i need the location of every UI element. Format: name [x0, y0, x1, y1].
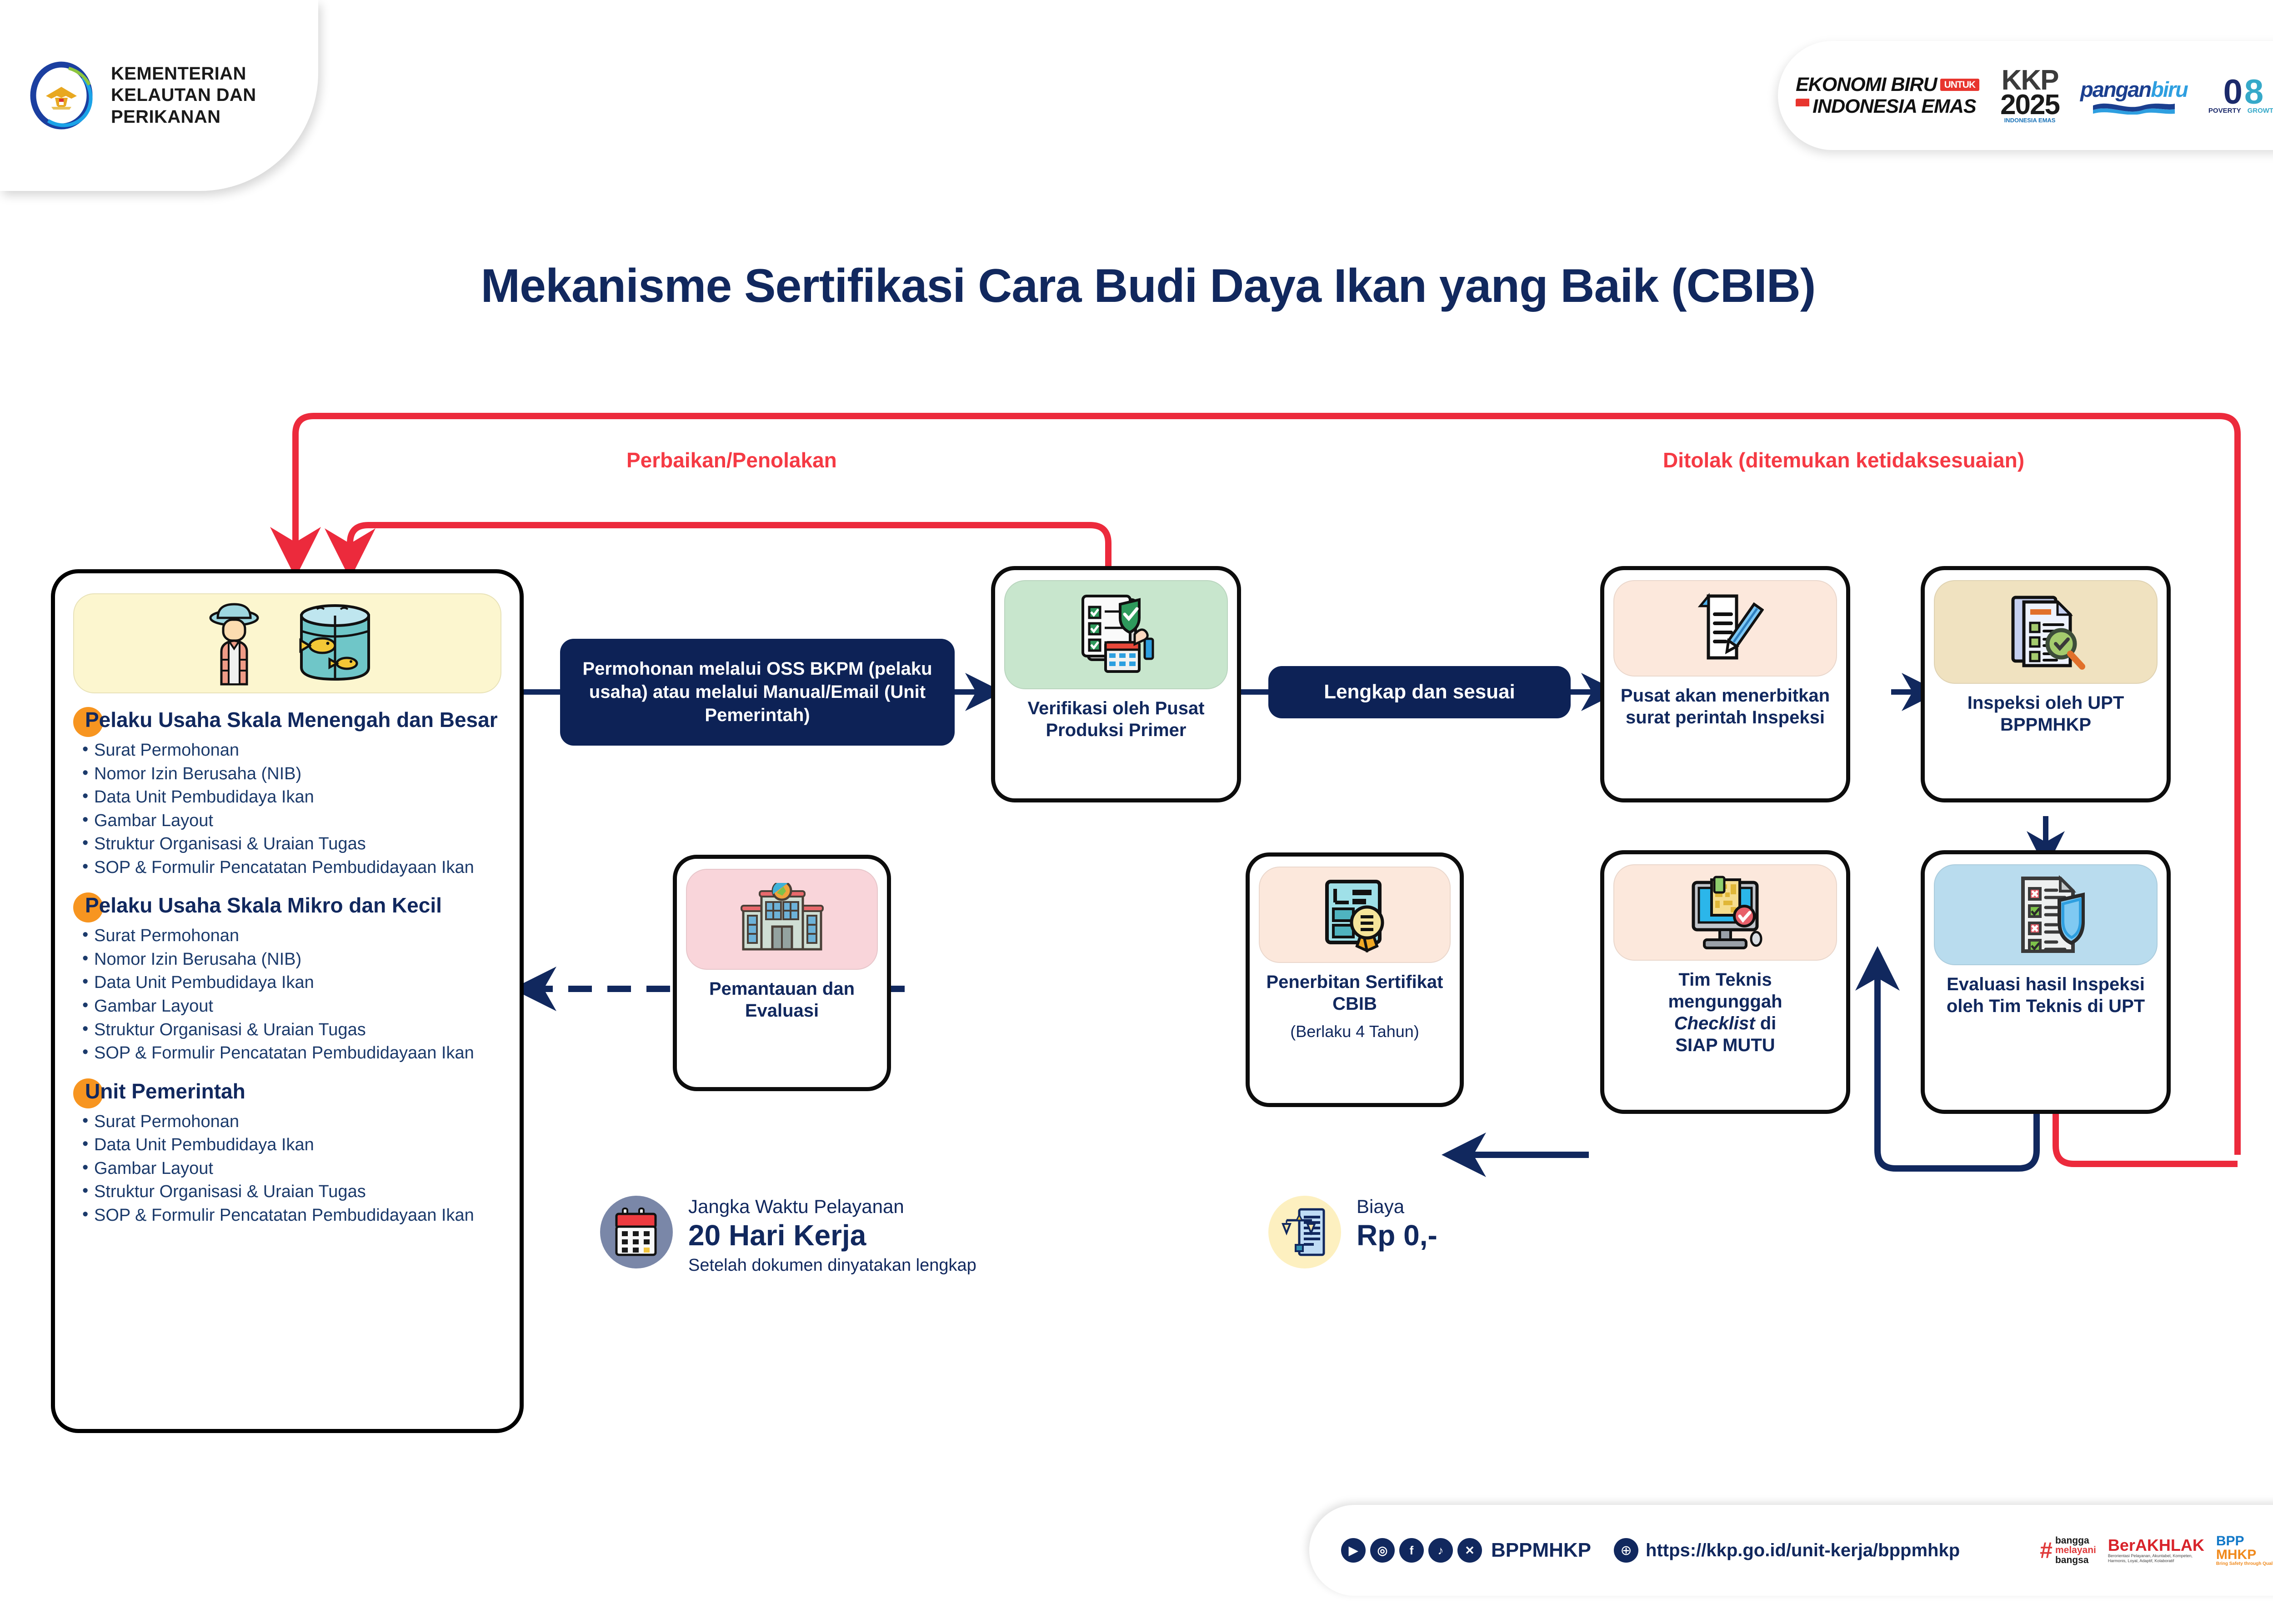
- mhkp-text: MHKP: [2216, 1548, 2273, 1562]
- checklist-shield-icon: [1934, 864, 2158, 965]
- fish-farmer-icon: [198, 601, 270, 686]
- tim-teknis-line4: SIAP MUTU: [1675, 1035, 1775, 1055]
- lengkap-dan-sesuai-pill: Lengkap dan sesuai: [1268, 666, 1571, 718]
- list-item: Surat Permohonan: [73, 1110, 501, 1133]
- list-item: Surat Permohonan: [73, 924, 501, 947]
- footer-badges: # bangga melayani bangsa BerAKHLAK Beror…: [2040, 1534, 2273, 1566]
- tim-teknis-line2: mengunggah: [1668, 992, 1782, 1012]
- info-biaya: Biaya Rp 0,-: [1268, 1196, 1437, 1268]
- bppmhkp-logo: BPP MHKP Bring Safety through Quality: [2216, 1534, 2273, 1566]
- document-pencil-icon: [1613, 580, 1837, 677]
- node-pemantauan: Pemantauan dan Evaluasi: [673, 855, 891, 1091]
- section-heading: Pelaku Usaha Skala Menengah dan Besar: [85, 707, 501, 732]
- scales-document-icon: [1268, 1196, 1341, 1268]
- facebook-icon[interactable]: f: [1399, 1538, 1424, 1563]
- requirement-section: Unit Pemerintah Surat Permohonan Data Un…: [73, 1078, 501, 1227]
- list-item: Struktur Organisasi & Uraian Tugas: [73, 1180, 501, 1203]
- node-inspeksi: Inspeksi oleh UPT BPPMHKP: [1921, 566, 2171, 802]
- berakhlak-title: BerAKHLAK: [2108, 1537, 2204, 1554]
- tiktok-icon[interactable]: ♪: [1428, 1538, 1453, 1563]
- waktu-value: 20 Hari Kerja: [688, 1219, 976, 1251]
- list-item: Data Unit Pembudidaya Ikan: [73, 1133, 501, 1157]
- requirement-list: Surat Permohonan Nomor Izin Berusaha (NI…: [73, 924, 501, 1064]
- checklist-approve-icon: [1004, 580, 1228, 689]
- requirement-section: Pelaku Usaha Skala Mikro dan Kecil Surat…: [73, 892, 501, 1064]
- checklist-magnifier-icon: [1934, 580, 2158, 684]
- section-heading: Pelaku Usaha Skala Mikro dan Kecil: [85, 892, 501, 918]
- node-label: Verifikasi oleh Pusat Produksi Primer: [1002, 697, 1230, 741]
- website-url[interactable]: https://kkp.go.id/unit-kerja/bppmhkp: [1646, 1540, 1960, 1561]
- node-evaluasi: Evaluasi hasil Inspeksi oleh Tim Teknis …: [1921, 850, 2171, 1114]
- requirement-list: Surat Permohonan Data Unit Pembudidaya I…: [73, 1110, 501, 1227]
- tim-teknis-line3-rest: di: [1755, 1013, 1777, 1033]
- node-verifikasi: Verifikasi oleh Pusat Produksi Primer: [991, 566, 1241, 802]
- bangga-melayani-bangsa-logo: # bangga melayani bangsa: [2040, 1536, 2096, 1565]
- node-label: Inspeksi oleh UPT BPPMHKP: [1932, 692, 2159, 736]
- label-perbaikan-penolakan: Perbaikan/Penolakan: [626, 448, 837, 472]
- info-waktu-pelayanan: Jangka Waktu Pelayanan 20 Hari Kerja Set…: [600, 1196, 976, 1275]
- bangga-line3: bangsa: [2055, 1555, 2096, 1565]
- section-heading: Unit Pemerintah: [85, 1078, 501, 1104]
- calendar-icon: [600, 1196, 673, 1268]
- infographic-page: KEMENTERIAN KELAUTAN DAN PERIKANAN EKONO…: [0, 0, 2273, 1624]
- waktu-note: Setelah dokumen dinyatakan lengkap: [688, 1256, 976, 1275]
- fish-tank-icon: [293, 604, 377, 683]
- node-tim-teknis: Tim Teknis mengunggah Checklist di SIAP …: [1600, 850, 1850, 1114]
- list-item: Struktur Organisasi & Uraian Tugas: [73, 1018, 501, 1042]
- list-item: Struktur Organisasi & Uraian Tugas: [73, 832, 501, 856]
- bpp-tagline: Bring Safety through Quality: [2216, 1562, 2273, 1566]
- list-item: Gambar Layout: [73, 1157, 501, 1180]
- requirement-section: Pelaku Usaha Skala Menengah dan Besar Su…: [73, 707, 501, 879]
- node-label: Evaluasi hasil Inspeksi oleh Tim Teknis …: [1932, 973, 2159, 1017]
- tim-teknis-line1: Tim Teknis: [1678, 970, 1772, 990]
- hash-icon: #: [2040, 1537, 2053, 1564]
- label-ditolak: Ditolak (ditemukan ketidaksesuaian): [1663, 448, 2024, 472]
- list-item: Nomor Izin Berusaha (NIB): [73, 948, 501, 971]
- website-link[interactable]: ⊕ https://kkp.go.id/unit-kerja/bppmhkp: [1614, 1538, 1960, 1563]
- list-item: Gambar Layout: [73, 995, 501, 1018]
- globe-icon: ⊕: [1614, 1538, 1638, 1563]
- node-label: Pusat akan menerbitkan surat perintah In…: [1612, 685, 1839, 728]
- biaya-label: Biaya: [1357, 1196, 1437, 1218]
- bangga-line1: bangga: [2055, 1536, 2096, 1545]
- bangga-line2: melayani: [2055, 1545, 2096, 1555]
- node-sublabel: (Berlaku 4 Tahun): [1290, 1022, 1419, 1041]
- section-heading-wrap: Pelaku Usaha Skala Menengah dan Besar: [73, 707, 501, 732]
- node-penerbitan-sertifikat: Penerbitan Sertifikat CBIB (Berlaku 4 Ta…: [1246, 852, 1464, 1107]
- certificate-ribbon-icon: [1259, 867, 1451, 963]
- requirement-list: Surat Permohonan Nomor Izin Berusaha (NI…: [73, 739, 501, 879]
- list-item: Data Unit Pembudidaya Ikan: [73, 971, 501, 994]
- section-heading-wrap: Unit Pemerintah: [73, 1078, 501, 1104]
- node-label: Penerbitan Sertifikat CBIB: [1257, 971, 1452, 1015]
- list-item: SOP & Formulir Pencatatan Pembudidayaan …: [73, 856, 501, 879]
- instagram-icon[interactable]: ◎: [1370, 1538, 1395, 1563]
- berakhlak-logo: BerAKHLAK Berorientasi Pelayanan, Akunta…: [2108, 1537, 2204, 1564]
- biaya-value: Rp 0,-: [1357, 1219, 1437, 1251]
- permohonan-pill: Permohonan melalui OSS BKPM (pelaku usah…: [560, 639, 955, 746]
- youtube-icon[interactable]: ▶: [1341, 1538, 1366, 1563]
- list-item: SOP & Formulir Pencatatan Pembudidayaan …: [73, 1042, 501, 1065]
- node-label: Pemantauan dan Evaluasi: [684, 978, 880, 1022]
- list-item: Gambar Layout: [73, 809, 501, 832]
- berakhlak-subtitle: Berorientasi Pelayanan, Akuntabel, Kompe…: [2108, 1554, 2194, 1564]
- social-links[interactable]: ▶ ◎ f ♪ ✕ BPPMHKP: [1341, 1538, 1591, 1563]
- bpp-text: BPP: [2216, 1534, 2273, 1548]
- government-building-icon: [686, 869, 878, 970]
- applicant-requirements-panel: Pelaku Usaha Skala Menengah dan Besar Su…: [51, 569, 524, 1433]
- list-item: Nomor Izin Berusaha (NIB): [73, 762, 501, 786]
- tim-teknis-checklist-em: Checklist: [1674, 1013, 1755, 1033]
- monitor-upload-icon: [1613, 864, 1837, 961]
- list-item: SOP & Formulir Pencatatan Pembudidayaan …: [73, 1204, 501, 1227]
- waktu-label: Jangka Waktu Pelayanan: [688, 1196, 976, 1218]
- section-heading-wrap: Pelaku Usaha Skala Mikro dan Kecil: [73, 892, 501, 918]
- social-handle: BPPMHKP: [1491, 1539, 1591, 1562]
- list-item: Surat Permohonan: [73, 739, 501, 762]
- x-twitter-icon[interactable]: ✕: [1457, 1538, 1482, 1563]
- panel-hero-illustration: [73, 593, 501, 693]
- list-item: Data Unit Pembudidaya Ikan: [73, 786, 501, 809]
- node-label: Tim Teknis mengunggah Checklist di SIAP …: [1668, 969, 1782, 1056]
- footer-bar: ▶ ◎ f ♪ ✕ BPPMHKP ⊕ https://kkp.go.id/un…: [1309, 1505, 2273, 1596]
- node-surat-perintah: Pusat akan menerbitkan surat perintah In…: [1600, 566, 1850, 802]
